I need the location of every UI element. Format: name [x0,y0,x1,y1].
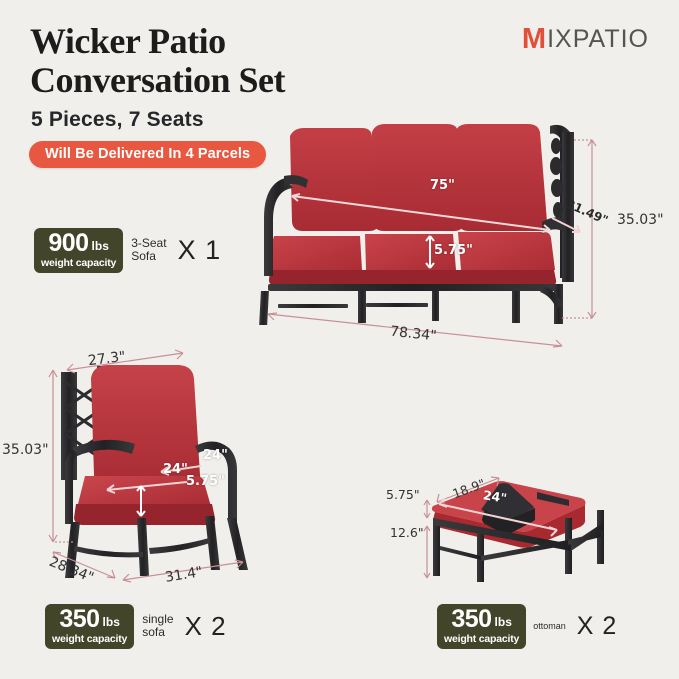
chair-dim-seat-depth: 24" [163,462,188,477]
badge-role-line2: Sofa [131,250,166,263]
title-line-1: Wicker Patio [30,21,226,61]
badge-role-ottoman: ottoman [533,620,566,633]
weight-capacity-unit: lbs [103,615,120,629]
brand-logo-m-icon: M [522,25,547,54]
chair-dim-seat-width: 24" [203,448,228,463]
badge-role-line2: sofa [142,626,173,639]
page-title: Wicker Patio Conversation Set [30,22,430,100]
weight-capacity-badge-chair: 350lbs weight capacity [45,604,134,649]
weight-capacity-unit: lbs [92,239,109,253]
chair-dim-cushion-thickness: 5.75" [186,474,225,489]
weight-capacity-badge-sofa: 900lbs weight capacity [34,228,123,273]
weight-capacity-caption: weight capacity [41,258,116,269]
chair-dim-height: 35.03" [2,442,49,458]
badge-row-sofa: 900lbs weight capacity 3-Seat Sofa X 1 [34,228,221,273]
sofa-illustration [262,118,627,328]
badge-qty-chair: X 2 [185,611,227,642]
badge-role-chair: single sofa [142,613,173,639]
badge-qty-ottoman: X 2 [577,612,618,641]
brand-logo: MIXPATIO [522,25,649,54]
weight-capacity-value: 900 [48,229,88,257]
ottoman-dim-cushion-thickness: 5.75" [386,487,420,502]
sofa-dim-seat-width: 75" [430,178,455,193]
badge-row-chair: 350lbs weight capacity single sofa X 2 [45,604,227,649]
subtitle: 5 Pieces, 7 Seats [31,108,204,132]
badge-role-sofa: 3-Seat Sofa [131,237,166,263]
weight-capacity-value: 350 [59,605,99,633]
sofa-dim-height: 35.03" [617,212,664,228]
weight-capacity-caption: weight capacity [444,634,519,645]
infographic-canvas: Wicker Patio Conversation Set 5 Pieces, … [0,0,679,679]
badge-role-line1: ottoman [533,620,566,633]
brand-logo-text: IXPATIO [547,25,649,54]
delivery-parcels-badge: Will Be Delivered In 4 Parcels [29,141,266,168]
sofa-frame-legs [259,284,563,325]
sofa-seat-cushions [266,232,556,286]
sofa-back-cushions [290,124,547,231]
title-line-2: Conversation Set [30,61,430,100]
weight-capacity-unit: lbs [495,615,512,629]
weight-capacity-caption: weight capacity [52,634,127,645]
ottoman-dim-leg-height: 12.6" [390,525,424,540]
weight-capacity-value: 350 [451,605,491,633]
weight-capacity-badge-ottoman: 350lbs weight capacity [437,604,526,649]
badge-qty-sofa: X 1 [178,235,222,266]
sofa-dim-cushion-thickness: 5.75" [434,243,473,258]
badge-row-ottoman: 350lbs weight capacity ottoman X 2 [437,604,617,649]
